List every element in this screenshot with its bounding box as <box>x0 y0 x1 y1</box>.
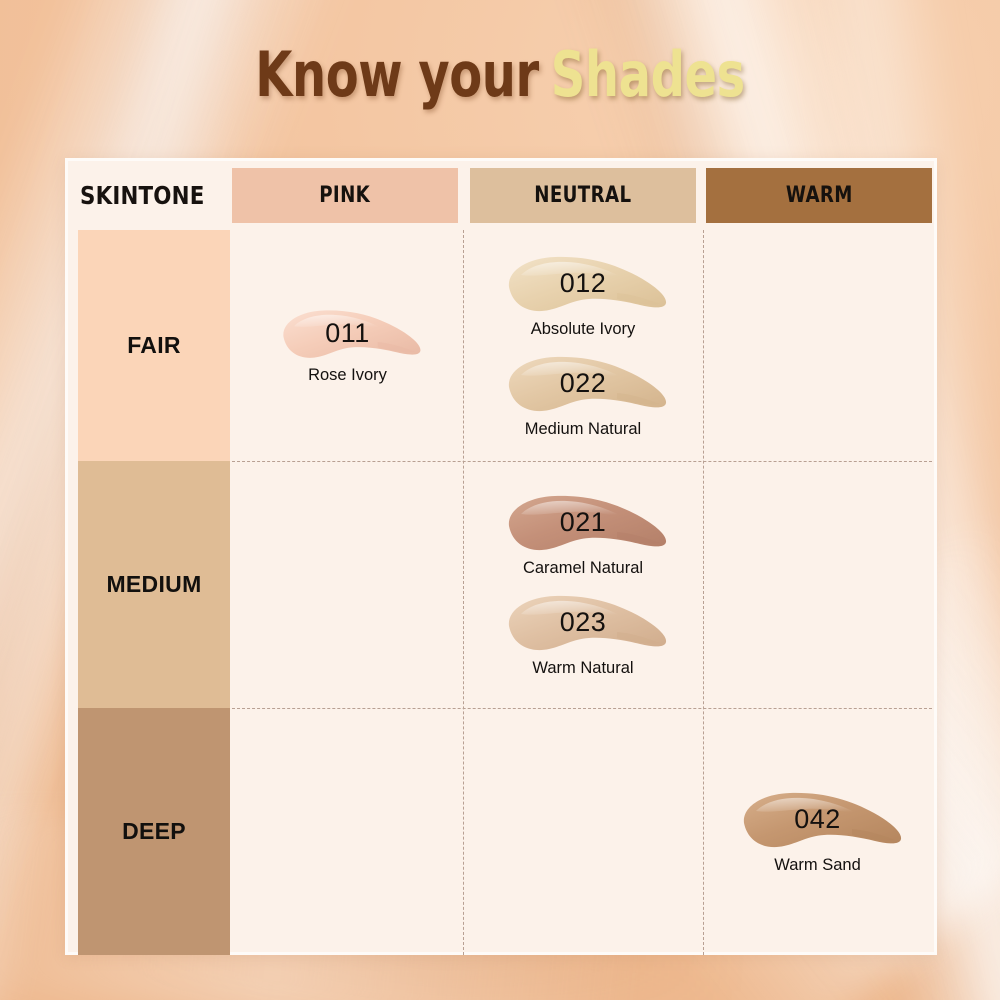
column-header-warm: WARM <box>706 168 932 223</box>
cell-deep-warm: 042Warm Sand <box>703 708 932 955</box>
cell-medium-pink <box>232 461 463 708</box>
swatch-code: 012 <box>560 270 607 297</box>
page-title: Know yourShades <box>70 38 930 111</box>
skintone-corner-label: SKINTONE <box>80 161 224 229</box>
page-title-part1: Know your <box>255 38 538 111</box>
shade-swatch[interactable]: 022Medium Natural <box>483 353 683 439</box>
swatch-name: Rose Ivory <box>308 366 387 385</box>
swatch-code: 022 <box>560 370 607 397</box>
column-header-neutral: NEUTRAL <box>470 168 696 223</box>
swatch-code: 011 <box>325 320 370 347</box>
swatch-code: 023 <box>560 609 607 636</box>
swatch-name: Warm Natural <box>532 659 633 678</box>
swatch-name: Caramel Natural <box>523 559 643 578</box>
swatch-code: 042 <box>794 806 841 833</box>
column-header-pink-label: PINK <box>320 183 371 208</box>
row-header-deep: DEEP <box>78 708 230 955</box>
column-header-pink: PINK <box>232 168 458 223</box>
cell-medium-neutral: 021Caramel Natural 023Warm Natural <box>463 461 703 708</box>
swatch-code: 021 <box>560 509 607 536</box>
cell-medium-warm <box>703 461 932 708</box>
page-title-part2: Shades <box>551 38 745 111</box>
cell-deep-neutral <box>463 708 703 955</box>
row-header-fair: FAIR <box>78 230 230 461</box>
shade-swatch[interactable]: 012Absolute Ivory <box>483 253 683 339</box>
shade-grid: 011Rose Ivory 012Absolute Ivory <box>232 230 932 955</box>
column-header-warm-label: WARM <box>786 183 853 208</box>
shade-swatch[interactable]: 011Rose Ivory <box>248 307 448 385</box>
row-header-medium: MEDIUM <box>78 461 230 708</box>
swatch-smear: 023 <box>497 592 669 656</box>
shade-swatch[interactable]: 021Caramel Natural <box>483 492 683 578</box>
table-header-row: SKINTONE PINK NEUTRAL WARM <box>68 161 934 229</box>
skintone-column: FAIR MEDIUM DEEP <box>78 230 230 955</box>
column-header-neutral-label: NEUTRAL <box>534 183 631 208</box>
swatch-smear: 011 <box>273 307 423 363</box>
cell-fair-warm <box>703 230 932 461</box>
swatch-smear: 022 <box>497 353 669 417</box>
swatch-smear: 021 <box>497 492 669 556</box>
shade-chart-card: SKINTONE PINK NEUTRAL WARM FAIR MEDIUM D… <box>65 158 937 955</box>
swatch-smear: 012 <box>497 253 669 317</box>
cell-deep-pink <box>232 708 463 955</box>
cell-fair-neutral: 012Absolute Ivory 022Medium Natural <box>463 230 703 461</box>
swatch-smear: 042 <box>732 789 904 853</box>
swatch-name: Medium Natural <box>525 420 641 439</box>
swatch-name: Absolute Ivory <box>531 320 636 339</box>
swatch-name: Warm Sand <box>774 856 861 875</box>
shade-swatch[interactable]: 023Warm Natural <box>483 592 683 678</box>
shade-swatch[interactable]: 042Warm Sand <box>718 789 918 875</box>
cell-fair-pink: 011Rose Ivory <box>232 230 463 461</box>
